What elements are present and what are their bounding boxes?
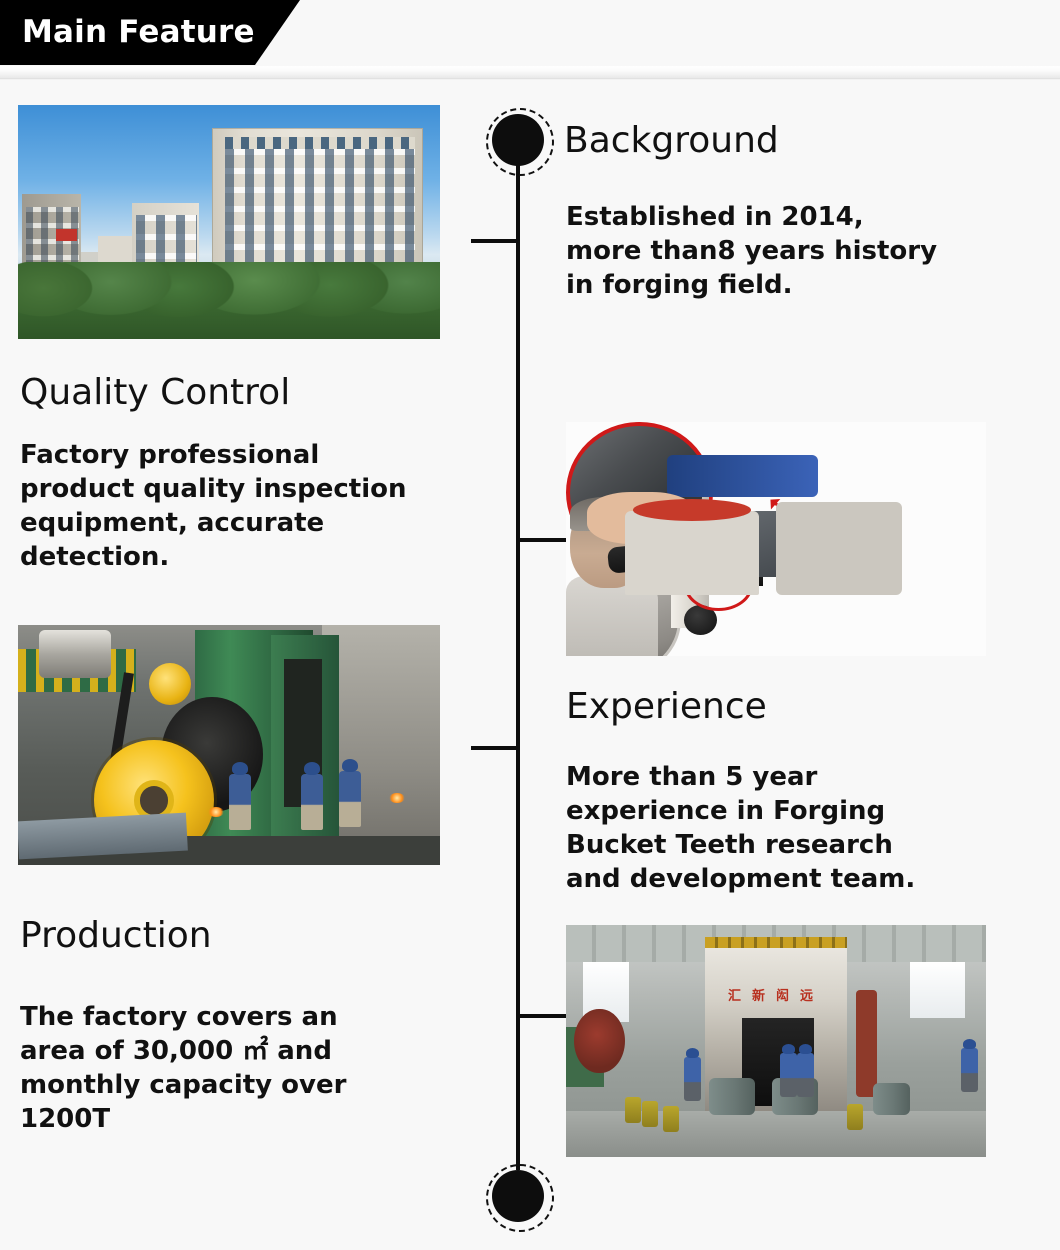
- worker-figure: [961, 1048, 978, 1092]
- forging-press-photo: [18, 625, 440, 865]
- section-title-background: Background: [564, 120, 779, 162]
- roof-window-strip: [225, 137, 415, 149]
- metal-drum: [709, 1078, 755, 1115]
- worker-figure: [780, 1053, 797, 1097]
- timeline-tick-experience: [471, 746, 518, 750]
- workshop-press-photo: 汇新闳远: [566, 925, 986, 1157]
- steel-coil: [39, 630, 111, 678]
- quality-inspection-photo: [566, 422, 986, 656]
- concrete-wall: [322, 625, 440, 865]
- worker-figure: [301, 774, 323, 830]
- yellow-barrel: [625, 1097, 641, 1123]
- yellow-barrel: [663, 1106, 679, 1132]
- office-building-photo: [18, 105, 440, 339]
- small-yellow-pulley: [149, 663, 191, 705]
- metal-drum: [873, 1083, 911, 1115]
- header-gradient-divider: [0, 66, 1060, 79]
- timeline-tick-production: [518, 1014, 567, 1018]
- yellow-barrel: [847, 1104, 863, 1130]
- red-flywheel: [574, 1009, 624, 1074]
- header-divider-line: [0, 79, 1060, 80]
- worker-figure: [797, 1053, 814, 1097]
- furnace-with-hot-glow: [625, 563, 681, 595]
- section-body-production: The factory covers an area of 30,000 ㎡ a…: [20, 1000, 346, 1136]
- timeline-tick-quality-control: [518, 538, 566, 542]
- red-signboard: [56, 229, 77, 241]
- timeline-top-marker-dot: [492, 114, 544, 166]
- timeline-tick-background: [471, 239, 518, 243]
- machine-chinese-label: 汇新闳远: [717, 985, 835, 1004]
- exhaust-pipe: [856, 990, 877, 1097]
- section-body-quality-control: Factory professional product quality ins…: [20, 438, 407, 574]
- worker-figure: [339, 771, 361, 827]
- section-title-experience: Experience: [566, 686, 767, 728]
- worker-figure: [229, 774, 251, 830]
- blue-fixture: [667, 455, 713, 497]
- page-title: Main Feature: [22, 13, 255, 51]
- infographic-page: Main Feature Quality Control Factory pro…: [0, 0, 1060, 1250]
- worker-figure: [684, 1057, 701, 1101]
- section-title-quality-control: Quality Control: [20, 372, 290, 414]
- section-body-experience: More than 5 year experience in Forging B…: [566, 760, 915, 896]
- yellow-barrel: [642, 1101, 658, 1127]
- tree-line: [18, 262, 440, 339]
- timeline-bottom-marker-dot: [492, 1170, 544, 1222]
- workshop-window: [910, 962, 965, 1018]
- section-body-background: Established in 2014, more than8 years hi…: [566, 200, 937, 302]
- section-title-production: Production: [20, 915, 212, 957]
